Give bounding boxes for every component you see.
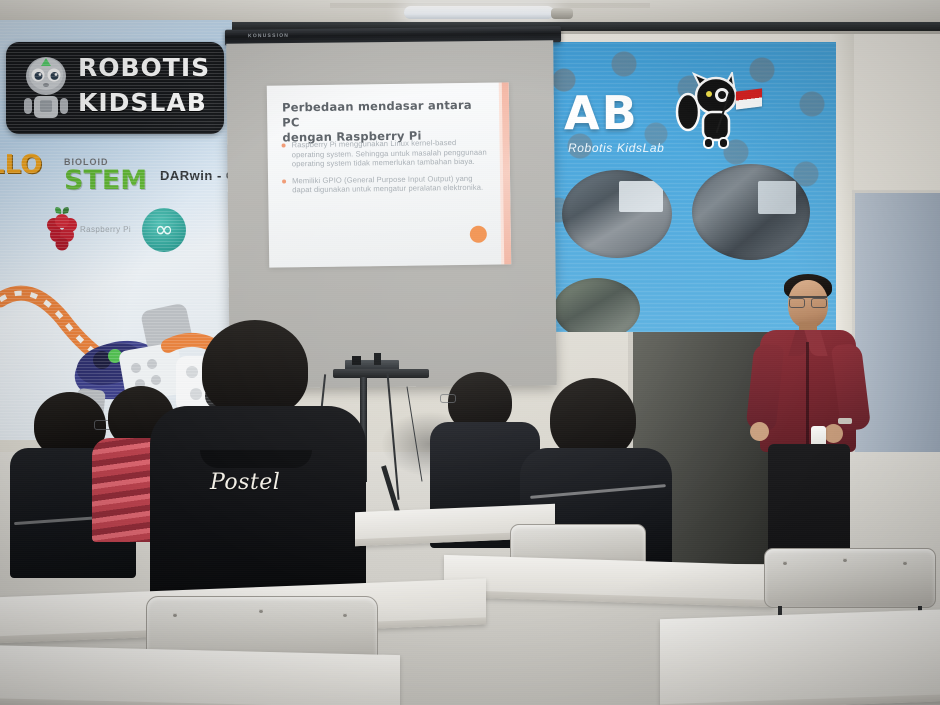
kit-chip <box>374 353 381 365</box>
presenter-hand-right <box>824 424 843 443</box>
glasses-icon <box>789 296 827 304</box>
banner-text-fragment: AB <box>564 86 639 140</box>
stem-logo: STEM <box>64 165 147 196</box>
shirt-placket <box>806 342 809 446</box>
chair-rivet <box>173 613 177 617</box>
robotis-logo-text: ROBOTIS KIDSLAB <box>78 50 218 120</box>
presenter <box>742 272 872 572</box>
chair-rivet <box>783 561 787 565</box>
classroom-photo-2 <box>692 164 810 260</box>
hello-logo: LLO <box>0 150 42 180</box>
presenter-hand-left <box>750 422 769 441</box>
chair-rivet <box>259 609 263 613</box>
photo-screen-detail <box>619 181 663 213</box>
classroom-photo-1 <box>562 170 672 258</box>
table-edge <box>0 698 400 705</box>
jacket-text-postel: Postel <box>210 470 330 495</box>
raspberry-pi-label: Raspberry Pi <box>80 225 131 234</box>
chair-back <box>764 548 936 608</box>
banner-subtitle: Robotis KidsLab <box>568 141 664 155</box>
chair-rivet <box>343 613 347 617</box>
fluorescent-tube-icon <box>404 6 554 19</box>
student-postel-jacket: Postel <box>150 320 364 620</box>
arduino-logo-icon: ∞ <box>142 208 186 252</box>
raspberry-pi-logo-icon <box>40 203 84 255</box>
folding-table <box>0 645 400 705</box>
black-cat-mascot-icon <box>670 72 760 150</box>
slide-bullet-item: Memiliki GPIO (General Purpose Input Out… <box>281 173 489 195</box>
presentation-slide: Perbedaan mendasar antara PC dengan Rasp… <box>267 82 512 267</box>
slide-accent-dot <box>470 226 487 243</box>
student-head <box>202 320 308 416</box>
slide-title-line-1: Perbedaan mendasar antara PC <box>282 98 482 131</box>
chair-rivet <box>903 561 907 565</box>
classroom-presentation-photo: ROBOTIS KIDSLAB LLO BIOLOID STEM DARwin … <box>0 0 940 705</box>
classroom-photo-3 <box>554 278 640 332</box>
folding-table <box>660 609 940 705</box>
logo-line-2: KIDSLAB <box>78 86 218 120</box>
slide-bullet-list: Raspberry Pi menggunakan Linux kernel-ba… <box>281 138 490 203</box>
logo-line-1: ROBOTIS <box>78 50 218 86</box>
indonesia-flag-icon <box>736 88 762 109</box>
jacket-collar <box>200 450 312 468</box>
slide-bullet-text: Memiliki GPIO (General Purpose Input Out… <box>292 173 489 195</box>
slide-bullet-item: Raspberry Pi menggunakan Linux kernel-ba… <box>281 138 489 170</box>
arduino-infinity-glyph: ∞ <box>154 219 173 242</box>
projector-screen-brand: KONUSSION <box>248 33 289 39</box>
wristwatch-icon <box>838 418 852 424</box>
chair-rivet <box>843 558 847 562</box>
robotis-logo-plate: ROBOTIS KIDSLAB <box>6 42 224 134</box>
photo-screen-detail <box>758 181 796 214</box>
darwin-op-label: DARwin - OP <box>160 168 232 183</box>
robot-mascot-icon <box>18 52 74 124</box>
light-fitting <box>551 8 573 19</box>
slide-bullet-text: Raspberry Pi menggunakan Linux kernel-ba… <box>292 138 489 170</box>
bioloid-label: BIOLOID <box>64 157 109 167</box>
glasses-icon <box>440 394 456 403</box>
